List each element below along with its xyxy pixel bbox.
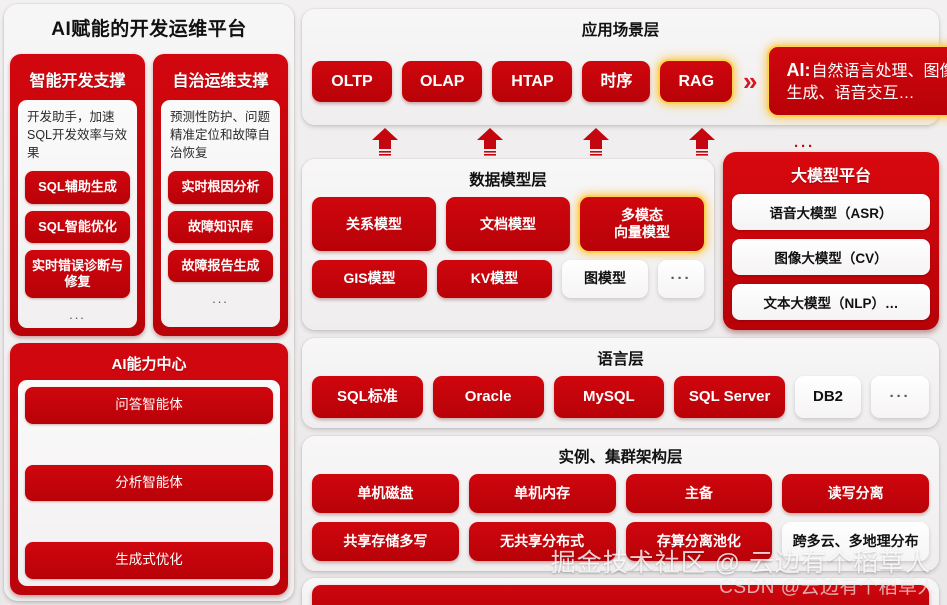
up-arrow-icon bbox=[687, 127, 717, 157]
model-layer-row-1: 关系模型 文档模型 多模态 向量模型 bbox=[312, 197, 704, 251]
chip-text-model-nlp[interactable]: 文本大模型（NLP）… bbox=[732, 284, 930, 320]
left-cards-row: 智能开发支撑 开发助手，加速SQL开发效率与效果 SQL辅助生成 SQL智能优化… bbox=[10, 54, 288, 336]
left-panel-title: AI赋能的开发运维平台 bbox=[10, 9, 288, 47]
chip-generative-optimization[interactable]: 生成式优化 bbox=[25, 542, 273, 579]
card-title: 自治运维支撑 bbox=[161, 61, 280, 100]
tile-document-model[interactable]: 文档模型 bbox=[446, 197, 570, 251]
tile-rag[interactable]: RAG bbox=[660, 61, 732, 102]
inst-layer-row-1: 单机磁盘 单机内存 主备 读写分离 bbox=[312, 474, 929, 513]
tile-multimodal-vector-model[interactable]: 多模态 向量模型 bbox=[580, 197, 704, 251]
tile-olap[interactable]: OLAP bbox=[402, 61, 482, 102]
card-description: 预测性防护、问题精准定位和故障自治恢复 bbox=[168, 108, 273, 164]
card-body: 预测性防护、问题精准定位和故障自治恢复 实时根因分析 故障知识库 故障报告生成 … bbox=[161, 100, 280, 327]
large-model-platform: 大模型平台 语音大模型（ASR） 图像大模型（CV） 文本大模型（NLP）… bbox=[723, 152, 939, 330]
tile-kv-model[interactable]: KV模型 bbox=[437, 260, 552, 298]
chip-realtime-error-diagnosis[interactable]: 实时错误诊断与修复 bbox=[25, 250, 130, 299]
up-arrow-icon bbox=[581, 127, 611, 157]
tile-model-more[interactable]: ··· bbox=[658, 260, 704, 298]
ai-label: AI: bbox=[787, 60, 811, 80]
language-layer: 语言层 SQL标准 Oracle MySQL SQL Server DB2 ··… bbox=[302, 338, 939, 428]
bottom-bar-panel bbox=[302, 578, 939, 605]
chip-fault-knowledge-base[interactable]: 故障知识库 bbox=[168, 211, 273, 243]
chip-qa-agent[interactable]: 问答智能体 bbox=[25, 387, 273, 424]
tile-htap[interactable]: HTAP bbox=[492, 61, 572, 102]
tile-multicloud-geo-distribution[interactable]: 跨多云、多地理分布 bbox=[782, 522, 929, 561]
chip-sql-smart-optimization[interactable]: SQL智能优化 bbox=[25, 211, 130, 243]
tile-relational-model[interactable]: 关系模型 bbox=[312, 197, 436, 251]
lang-layer-row: SQL标准 Oracle MySQL SQL Server DB2 ··· bbox=[312, 376, 929, 418]
ai-dev-ops-platform-panel: AI赋能的开发运维平台 智能开发支撑 开发助手，加速SQL开发效率与效果 SQL… bbox=[4, 4, 294, 601]
ai-description: 自然语言处理、图像识别/生成、语音交互… bbox=[787, 63, 947, 102]
tile-line-1: 多模态 bbox=[614, 207, 670, 224]
tile-graph-model[interactable]: 图模型 bbox=[562, 260, 648, 298]
bottom-red-bar bbox=[312, 585, 929, 605]
lang-layer-title: 语言层 bbox=[312, 343, 929, 376]
tile-read-write-split[interactable]: 读写分离 bbox=[782, 474, 929, 513]
chip-image-model-cv[interactable]: 图像大模型（CV） bbox=[732, 239, 930, 275]
chip-realtime-root-cause-analysis[interactable]: 实时根因分析 bbox=[168, 171, 273, 203]
diagram-canvas: AI赋能的开发运维平台 智能开发支撑 开发助手，加速SQL开发效率与效果 SQL… bbox=[0, 0, 947, 605]
model-layer-title: 数据模型层 bbox=[312, 164, 704, 197]
card-description: 开发助手，加速SQL开发效率与效果 bbox=[25, 108, 130, 164]
app-layer-tiles-row: OLTP OLAP HTAP 时序 RAG » AI:自然语言处理、图像识别/生… bbox=[312, 47, 929, 115]
chip-speech-model-asr[interactable]: 语音大模型（ASR） bbox=[732, 194, 930, 230]
tile-db2[interactable]: DB2 bbox=[795, 376, 861, 418]
app-layer-title: 应用场景层 bbox=[312, 14, 929, 47]
tile-storage-compute-separation[interactable]: 存算分离池化 bbox=[626, 522, 773, 561]
tile-shared-storage-multiwrite[interactable]: 共享存储多写 bbox=[312, 522, 459, 561]
tile-lang-more[interactable]: ··· bbox=[871, 376, 929, 418]
card-body: 开发助手，加速SQL开发效率与效果 SQL辅助生成 SQL智能优化 实时错误诊断… bbox=[18, 100, 137, 328]
chip-analysis-agent[interactable]: 分析智能体 bbox=[25, 465, 273, 502]
platform-title: 大模型平台 bbox=[732, 157, 930, 194]
tile-standalone-disk[interactable]: 单机磁盘 bbox=[312, 474, 459, 513]
tile-oltp[interactable]: OLTP bbox=[312, 61, 392, 102]
tile-sql-server[interactable]: SQL Server bbox=[674, 376, 785, 418]
inst-layer-row-2: 共享存储多写 无共享分布式 存算分离池化 跨多云、多地理分布 bbox=[312, 522, 929, 561]
tile-ai-capabilities[interactable]: AI:自然语言处理、图像识别/生成、语音交互… bbox=[769, 47, 947, 115]
card-more-ellipsis[interactable]: ... bbox=[168, 289, 273, 306]
tile-shared-nothing-distributed[interactable]: 无共享分布式 bbox=[469, 522, 616, 561]
model-and-platform-band: 数据模型层 关系模型 文档模型 多模态 向量模型 GIS模型 KV模型 图模型 bbox=[302, 159, 939, 330]
card-title: 智能开发支撑 bbox=[18, 61, 137, 100]
chip-sql-assisted-generation[interactable]: SQL辅助生成 bbox=[25, 171, 130, 203]
model-layer-row-2: GIS模型 KV模型 图模型 ··· bbox=[312, 260, 704, 298]
tile-standalone-memory[interactable]: 单机内存 bbox=[469, 474, 616, 513]
tile-oracle[interactable]: Oracle bbox=[433, 376, 544, 418]
tile-sql-standard[interactable]: SQL标准 bbox=[312, 376, 423, 418]
architecture-layers-column: 应用场景层 OLTP OLAP HTAP 时序 RAG » AI:自然语言处理、… bbox=[302, 4, 943, 601]
card-more-ellipsis[interactable]: ... bbox=[25, 305, 130, 322]
application-scenario-layer: 应用场景层 OLTP OLAP HTAP 时序 RAG » AI:自然语言处理、… bbox=[302, 9, 939, 125]
ai-capability-center: AI能力中心 问答智能体 分析智能体 生成式优化 bbox=[10, 343, 288, 595]
up-arrow-icon bbox=[370, 127, 400, 157]
card-intelligent-development: 智能开发支撑 开发助手，加速SQL开发效率与效果 SQL辅助生成 SQL智能优化… bbox=[10, 54, 145, 336]
tile-primary-standby[interactable]: 主备 bbox=[626, 474, 773, 513]
ai-center-body: 问答智能体 分析智能体 生成式优化 bbox=[18, 380, 280, 586]
card-autonomous-operations: 自治运维支撑 预测性防护、问题精准定位和故障自治恢复 实时根因分析 故障知识库 … bbox=[153, 54, 288, 336]
chip-fault-report-generation[interactable]: 故障报告生成 bbox=[168, 250, 273, 282]
up-arrow-icon bbox=[475, 127, 505, 157]
inst-layer-title: 实例、集群架构层 bbox=[312, 441, 929, 474]
instance-cluster-architecture-layer: 实例、集群架构层 单机磁盘 单机内存 主备 读写分离 共享存储多写 无共享分布式… bbox=[302, 436, 939, 571]
tile-time-series[interactable]: 时序 bbox=[582, 61, 650, 102]
ai-center-title: AI能力中心 bbox=[18, 349, 280, 380]
tile-line-2: 向量模型 bbox=[614, 224, 670, 241]
tile-mysql[interactable]: MySQL bbox=[554, 376, 665, 418]
double-chevron-right-icon: » bbox=[742, 68, 758, 94]
tile-gis-model[interactable]: GIS模型 bbox=[312, 260, 427, 298]
data-model-layer: 数据模型层 关系模型 文档模型 多模态 向量模型 GIS模型 KV模型 图模型 bbox=[302, 159, 714, 330]
